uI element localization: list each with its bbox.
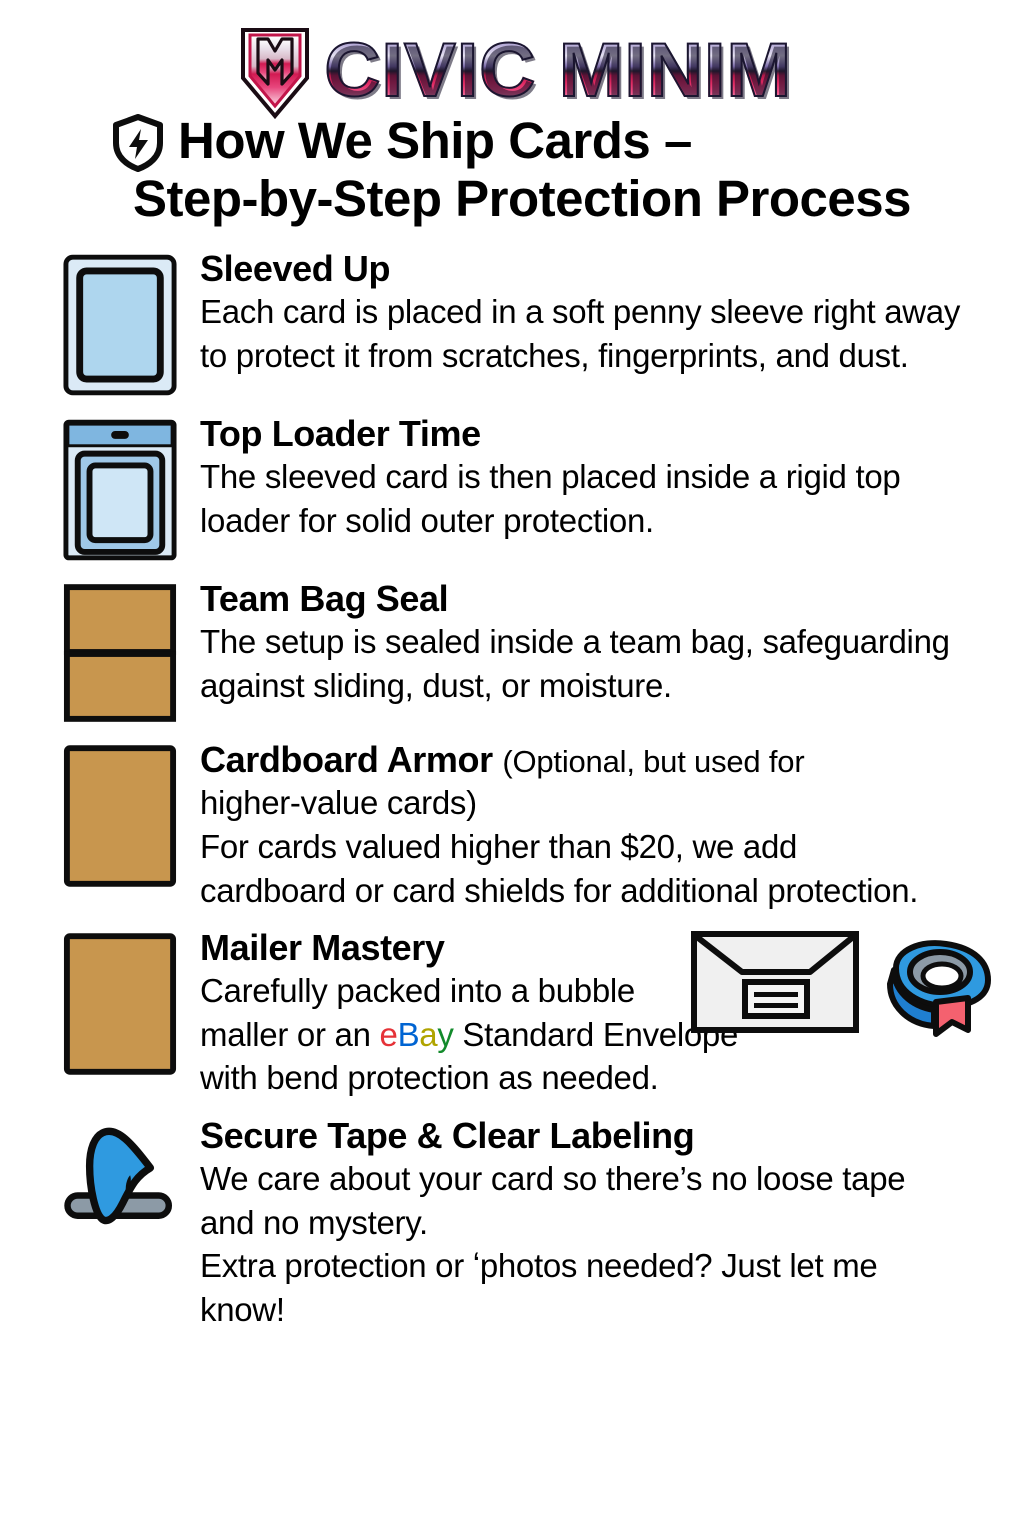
brand-header: CIVIC MINIM: [0, 0, 1024, 100]
step-description: Each card is placed in a soft penny slee…: [200, 290, 1002, 377]
step-description: The setup is sealed inside a team bag, s…: [200, 620, 1002, 707]
step-heading-note: (Optional, but used for: [502, 744, 804, 779]
step-heading: Sleeved Up: [200, 249, 1002, 289]
step-description: higher-value cards) For cards valued hig…: [200, 781, 1002, 912]
step-team-bag-seal: Team Bag Seal The setup is sealed inside…: [62, 579, 1002, 724]
tape-roll-icon: [876, 930, 996, 1045]
step-secure-tape-clear-labeling: Secure Tape & Clear Labeling We care abo…: [62, 1116, 1002, 1332]
step-heading: Top Loader Time: [200, 414, 1002, 454]
step-heading: Team Bag Seal: [200, 579, 1002, 619]
shield-bolt-icon: [112, 114, 164, 172]
cardboard-panel-icon: [62, 740, 178, 889]
tape-dispenser-icon: [62, 1116, 178, 1237]
step-description: We care about your card so there’s no lo…: [200, 1157, 1002, 1331]
page-title-line2: Step-by-Step Protection Process: [30, 170, 994, 227]
mailer-art-group: [690, 930, 996, 1045]
step-cardboard-armor: Cardboard Armor (Optional, but used for …: [62, 740, 1002, 912]
top-loader-icon: [62, 414, 178, 563]
step-heading: Cardboard Armor (Optional, but used for: [200, 740, 1002, 780]
step-heading: Secure Tape & Clear Labeling: [200, 1116, 1002, 1156]
step-heading-text: Cardboard Armor: [200, 739, 493, 780]
cardboard-panel-icon: [62, 928, 178, 1077]
envelope-icon: [690, 930, 860, 1039]
step-top-loader-time: Top Loader Time The sleeved card is then…: [62, 414, 1002, 563]
civic-minim-logo-icon: [237, 26, 313, 120]
step-sleeved-up: Sleeved Up Each card is placed in a soft…: [62, 249, 1002, 398]
team-bag-icon: [62, 579, 178, 724]
page-title-line1: How We Ship Cards –: [178, 114, 692, 167]
mailer-text-before: maller or an: [200, 1016, 380, 1053]
steps-list: Sleeved Up Each card is placed in a soft…: [0, 249, 1024, 1331]
ebay-brand-text: eBay: [380, 1016, 454, 1053]
page-title: How We Ship Cards – Step-by-Step Protect…: [0, 112, 1024, 227]
step-mailer-mastery: Mailer Mastery Carefully packed into a b…: [62, 928, 1002, 1100]
step-description: The sleeved card is then placed inside a…: [200, 455, 1002, 542]
penny-sleeve-card-icon: [62, 249, 178, 398]
brand-wordmark: CIVIC MINIM: [324, 33, 792, 109]
